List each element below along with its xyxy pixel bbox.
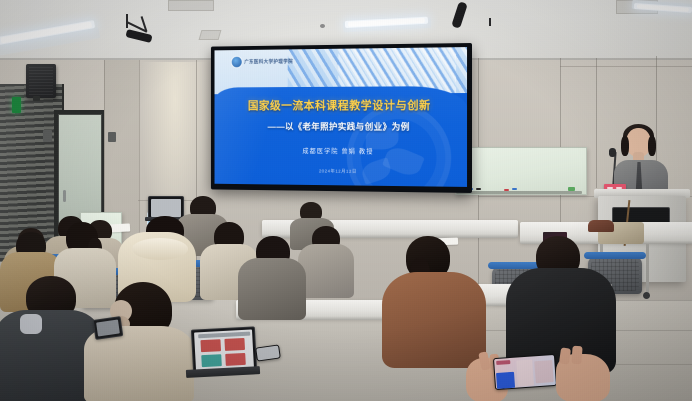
wall-switch-panel[interactable] — [108, 132, 116, 142]
door-handle[interactable] — [63, 190, 66, 202]
attendee-torso — [298, 244, 354, 298]
wall-control-panel[interactable] — [43, 130, 52, 142]
laptop-display — [151, 199, 181, 217]
slide-logo-text: 广东医科大学护理学院 — [244, 58, 293, 65]
slide-surface: 广东医科大学护理学院 国家级一流本科课程教学设计与创新 ——以《老年照护实践与创… — [215, 47, 468, 187]
wall-seam — [596, 58, 597, 188]
slide-presenter: 成都医学院 曾娟 教授 — [215, 145, 468, 156]
presenter-hair — [648, 136, 656, 156]
attendee-torso — [382, 272, 486, 368]
tablet[interactable] — [93, 316, 124, 340]
attendee-collar — [20, 314, 42, 334]
marker-blue[interactable] — [512, 188, 517, 190]
slide-title: 国家级一流本科课程教学设计与创新 — [215, 97, 468, 113]
wall-speaker — [26, 64, 56, 98]
laptop-tile[interactable] — [200, 339, 221, 352]
marker-red[interactable] — [504, 189, 509, 191]
table-caster — [643, 292, 650, 299]
finger — [571, 346, 582, 365]
university-emblem-icon — [231, 57, 241, 68]
tablet-display — [96, 320, 120, 337]
ceiling-access-panel — [199, 30, 222, 40]
attendee-hood-fur — [132, 238, 188, 260]
smartphone-camera[interactable] — [493, 354, 557, 390]
laptop-tile[interactable] — [225, 353, 246, 366]
lecture-hall-photo: 广东医科大学护理学院 国家级一流本科课程教学设计与创新 ——以《老年照护实践与创… — [0, 0, 692, 401]
laptop-tile[interactable] — [224, 338, 245, 351]
phone-ui-panel — [516, 359, 534, 386]
wall-seam — [560, 66, 692, 67]
laptop-display — [194, 330, 254, 371]
camera-mount-stem — [489, 18, 491, 26]
phone-ui-accent — [496, 360, 510, 365]
gooseneck-microphone — [609, 148, 616, 157]
ceiling-access-panel — [168, 0, 214, 11]
phone-ui-panel — [496, 372, 515, 389]
floor-tile-line — [612, 300, 692, 301]
whiteboard-marker-tray — [456, 191, 582, 194]
handbag-strap — [588, 220, 614, 232]
marker-black[interactable] — [476, 188, 481, 190]
attendee-torso — [238, 258, 306, 320]
phone-display — [494, 355, 556, 389]
table-leg — [646, 244, 649, 294]
phone-ui-panel — [534, 360, 553, 383]
smoke-detector-icon — [320, 24, 325, 28]
slide-subtitle: ——以《老年照护实践与创业》为例 — [215, 120, 468, 133]
laptop-tile[interactable] — [201, 354, 222, 367]
phone-display — [256, 346, 279, 361]
eraser[interactable] — [568, 187, 575, 191]
led-wall-display: 广东医科大学护理学院 国家级一流本科课程教学设计与创新 ——以《老年照护实践与创… — [211, 43, 472, 193]
presenter-hair — [621, 136, 629, 156]
wall-outlet — [33, 96, 40, 101]
chair-armrest — [584, 252, 646, 259]
exit-indicator-icon — [12, 97, 21, 113]
slide-institution-logo: 广东医科大学护理学院 — [231, 56, 293, 67]
